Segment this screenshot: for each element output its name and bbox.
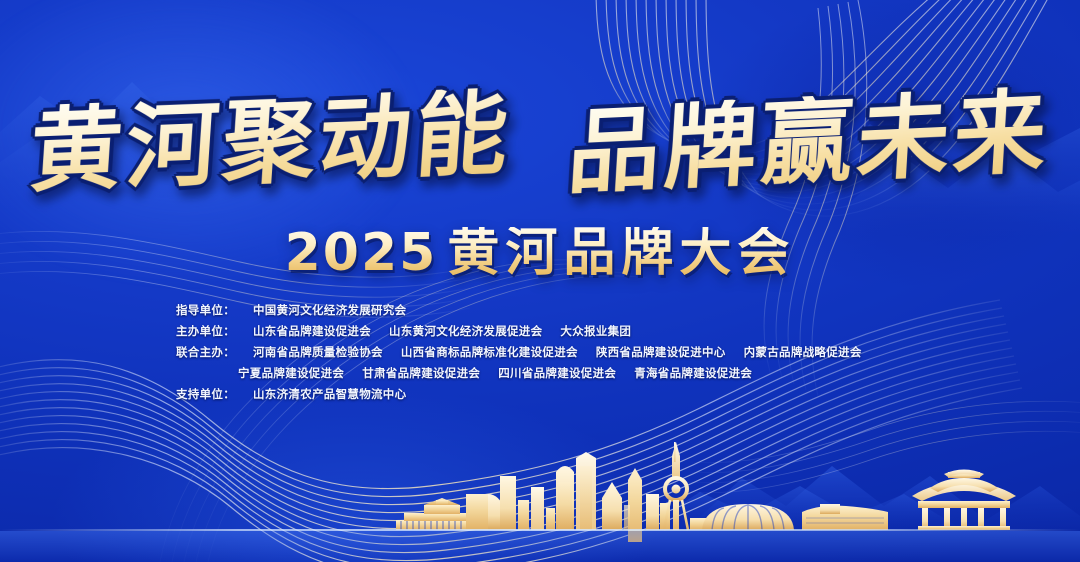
headline-part-1: 黄河聚动能 bbox=[27, 87, 515, 197]
credit-org: 山东黄河文化经济发展促进会 bbox=[389, 324, 542, 338]
skyline-group bbox=[396, 442, 1016, 542]
credits-block: 指导单位：中国黄河文化经济发展研究会 主办单位：山东省品牌建设促进会山东黄河文化… bbox=[176, 300, 976, 405]
event-name: 黄河品牌大会 bbox=[447, 223, 795, 283]
credit-org: 内蒙古品牌战略促进会 bbox=[744, 345, 862, 359]
event-subtitle: 2025黄河品牌大会 bbox=[285, 227, 796, 279]
mountain-silhouettes bbox=[0, 0, 1080, 562]
credit-label-guidance: 指导单位： bbox=[176, 303, 235, 317]
event-year: 2025 bbox=[285, 223, 438, 283]
stadium-icon bbox=[702, 504, 794, 530]
subtitle-row: 2025黄河品牌大会 bbox=[0, 222, 1080, 284]
credit-row-host: 主办单位：山东省品牌建设促进会山东黄河文化经济发展促进会大众报业集团 bbox=[176, 321, 976, 342]
credit-label-support: 支持单位： bbox=[176, 387, 235, 401]
credit-label-cohost: 联合主办： bbox=[176, 345, 235, 359]
background-glow-bottom bbox=[0, 337, 778, 562]
credit-row-support: 支持单位：山东济清农产品智慧物流中心 bbox=[176, 384, 976, 405]
credit-org: 宁夏品牌建设促进会 bbox=[238, 366, 344, 380]
city-skyline bbox=[0, 0, 1080, 562]
headline: 黄河聚动能 品牌赢未来 bbox=[0, 72, 1080, 212]
credit-org: 四川省品牌建设促进会 bbox=[498, 366, 616, 380]
headline-part-2: 品牌赢未来 bbox=[565, 85, 1052, 199]
foreground-reflection bbox=[0, 531, 1080, 562]
credit-row-cohost-continued: 宁夏品牌建设促进会甘肃省品牌建设促进会四川省品牌建设促进会青海省品牌建设促进会 bbox=[176, 363, 976, 384]
credit-org: 河南省品牌质量检验协会 bbox=[253, 345, 383, 359]
background-glow-left bbox=[0, 0, 518, 348]
credit-org: 大众报业集团 bbox=[560, 324, 631, 338]
credit-org: 中国黄河文化经济发展研究会 bbox=[253, 303, 406, 317]
credit-label-host: 主办单位： bbox=[176, 324, 235, 338]
background-shade-right bbox=[626, 0, 1080, 337]
poster-canvas: 黄河聚动能 品牌赢未来 2025黄河品牌大会 指导单位：中国黄河文化经济发展研究… bbox=[0, 0, 1080, 562]
horizon-line bbox=[0, 529, 1080, 531]
low-rise-block bbox=[802, 504, 888, 530]
wave-ribbon-lines bbox=[0, 0, 1080, 562]
credit-org: 山东省品牌建设促进会 bbox=[253, 324, 371, 338]
credit-row-cohost: 联合主办：河南省品牌质量检验协会山西省商标品牌标准化建设促进会陕西省品牌建设促进… bbox=[176, 342, 976, 363]
credit-org: 青海省品牌建设促进会 bbox=[634, 366, 752, 380]
credit-org: 山西省商标品牌标准化建设促进会 bbox=[401, 345, 578, 359]
tv-tower-icon bbox=[664, 442, 688, 530]
paifang-gate-icon bbox=[912, 470, 1016, 531]
credit-org: 甘肃省品牌建设促进会 bbox=[362, 366, 480, 380]
credit-org: 陕西省品牌建设促进中心 bbox=[596, 345, 726, 359]
credit-org: 山东济清农产品智慧物流中心 bbox=[253, 387, 406, 401]
credit-row-guidance: 指导单位：中国黄河文化经济发展研究会 bbox=[176, 300, 976, 321]
